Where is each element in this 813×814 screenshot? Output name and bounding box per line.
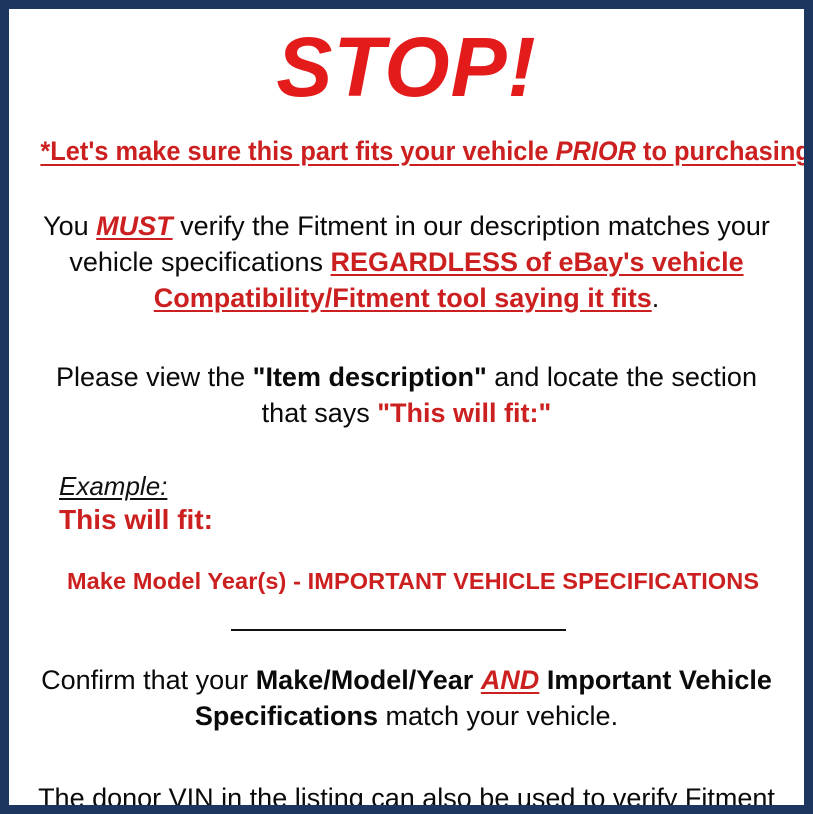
tagline-before: *Let's make sure this part fits your veh… <box>40 136 555 166</box>
example-block: Example: This will fit: Make Model Year(… <box>17 472 796 595</box>
this-will-fit-emphasis: "This will fit:" <box>377 398 551 428</box>
divider-wrapper <box>17 625 796 639</box>
item-description-emphasis: "Item description" <box>253 362 487 392</box>
make-model-year-emphasis: Make/Model/Year <box>256 665 474 695</box>
example-label: Example: <box>59 472 167 502</box>
confirm-space-2 <box>539 665 547 695</box>
confirm-space-1 <box>473 665 481 695</box>
tagline: *Let's make sure this part fits your veh… <box>40 137 772 167</box>
confirm-paragraph: Confirm that your Make/Model/Year AND Im… <box>17 663 796 735</box>
and-emphasis: AND <box>481 665 540 695</box>
must-emphasis: MUST <box>96 211 173 241</box>
example-spec-line: Make Model Year(s) - IMPORTANT VEHICLE S… <box>59 568 796 595</box>
example-fit-header: This will fit: <box>59 504 796 536</box>
please-paragraph: Please view the "Item description" and l… <box>17 360 796 432</box>
tagline-emphasis: PRIOR <box>556 136 636 166</box>
vin-paragraph: The donor VIN in the listing can also be… <box>17 781 796 814</box>
fitment-notice-card: STOP! *Let's make sure this part fits yo… <box>0 0 813 814</box>
tagline-after: to purchasing* <box>636 136 813 166</box>
confirm-part1: Confirm that your <box>41 665 256 695</box>
must-paragraph: You MUST verify the Fitment in our descr… <box>17 209 796 317</box>
please-part1: Please view the <box>56 362 253 392</box>
page-title: STOP! <box>17 25 796 109</box>
horizontal-divider <box>231 629 566 631</box>
notice-content: STOP! *Let's make sure this part fits yo… <box>9 25 804 814</box>
must-part1: You <box>43 211 96 241</box>
must-part3: . <box>652 283 660 313</box>
confirm-part2: match your vehicle. <box>378 701 618 731</box>
